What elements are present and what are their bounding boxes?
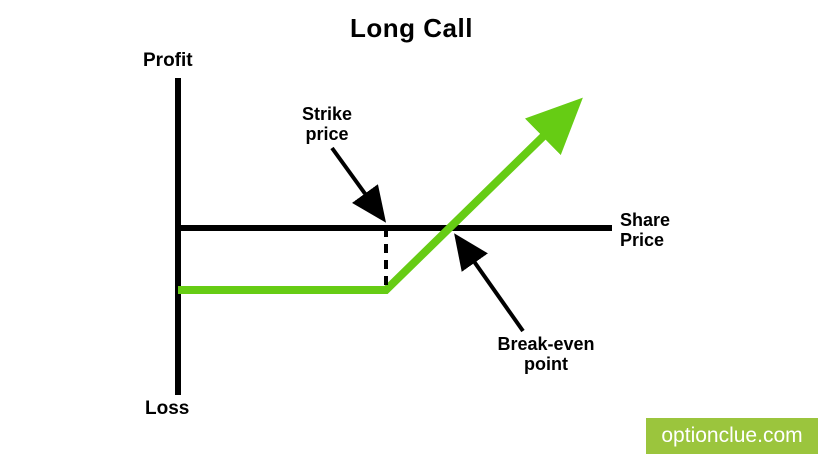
x-axis-label-share-price: #000000SharePrice: [620, 210, 670, 250]
watermark-badge[interactable]: optionclue.com: [646, 418, 818, 454]
break-even-arrow: [461, 243, 523, 331]
y-axis-label-loss: Loss: [145, 398, 189, 419]
chart-title: Long Call: [0, 14, 823, 43]
strike-price-arrow: [332, 148, 379, 213]
chart-canvas: Long Call Profit Loss #000000SharePrice …: [0, 0, 823, 458]
x-axis-label-price: Price: [620, 230, 664, 250]
annotation-strike-price-line2: price: [305, 124, 348, 144]
annotation-strike-price-line1: Strike: [302, 104, 352, 124]
annotation-break-even-line2: point: [524, 354, 568, 374]
payoff-line: [178, 120, 560, 290]
y-axis-label-profit: Profit: [143, 50, 193, 71]
annotation-break-even-line1: Break-even: [497, 334, 594, 354]
watermark-label: optionclue.com: [661, 424, 802, 448]
payoff-diagram: [0, 0, 823, 458]
annotation-strike-price: Strikeprice: [272, 104, 382, 144]
annotation-break-even-point: Break-evenpoint: [473, 334, 619, 374]
x-axis-label-share: Share: [620, 210, 670, 230]
